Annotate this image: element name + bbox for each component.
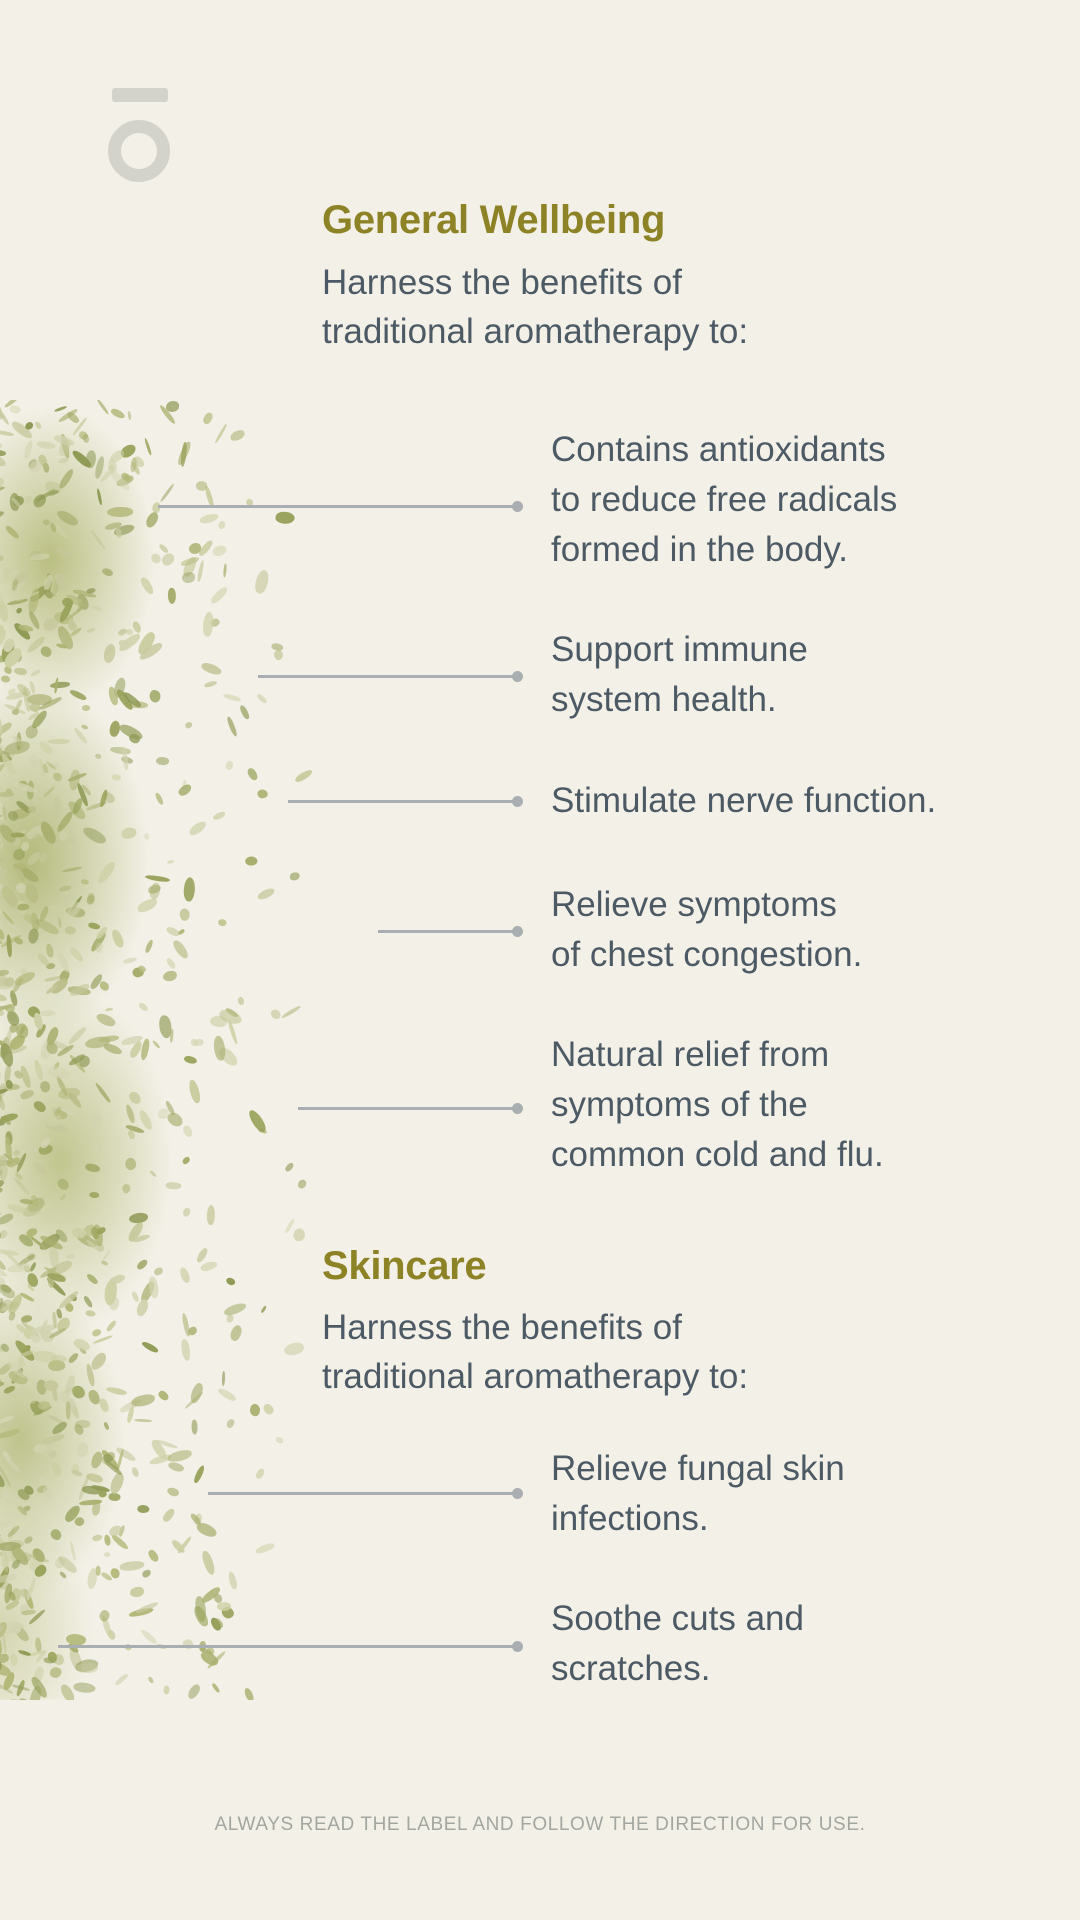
herb-leaf	[26, 1553, 47, 1574]
herb-leaf	[0, 1036, 12, 1059]
herb-leaf	[0, 1049, 11, 1060]
herb-leaf	[52, 1385, 59, 1401]
herb-leaf	[0, 1115, 12, 1127]
herb-leaf	[56, 624, 75, 651]
herb-leaf	[13, 809, 29, 819]
herb-leaf	[25, 421, 35, 431]
herb-leaf	[69, 1647, 85, 1672]
herb-leaf	[86, 1567, 99, 1589]
dried-herb-pile	[0, 400, 300, 1700]
herb-leaf	[72, 1681, 96, 1694]
herb-leaf	[141, 1569, 152, 1579]
herb-leaf	[0, 855, 6, 863]
herb-leaf	[5, 1132, 12, 1146]
herb-leaf	[5, 1029, 13, 1047]
herb-leaf	[0, 1329, 1, 1338]
herb-leaf	[0, 1397, 1, 1412]
herb-leaf	[16, 733, 22, 751]
herb-leaf	[14, 666, 29, 676]
herb-leaf	[22, 1484, 34, 1497]
herb-leaf	[11, 977, 24, 994]
herb-leaf	[14, 1338, 37, 1363]
herb-leaf	[69, 1054, 87, 1074]
herb-leaf	[53, 1556, 67, 1570]
herb-leaf	[222, 1371, 226, 1386]
herb-leaf	[36, 951, 50, 967]
herb-leaf	[6, 1203, 26, 1216]
herb-leaf	[106, 507, 132, 518]
herb-leaf	[50, 1353, 67, 1362]
herb-leaf	[108, 448, 126, 464]
bullet-text-chest-congestion: Relieve symptoms of chest congestion.	[551, 880, 862, 980]
herb-leaf	[79, 1222, 97, 1240]
herb-leaf	[0, 1659, 3, 1674]
herb-leaf	[45, 1276, 67, 1298]
herb-leaf	[55, 809, 76, 833]
herb-leaf	[70, 1294, 78, 1303]
herb-leaf	[121, 473, 129, 482]
herb-leaf	[24, 883, 39, 904]
herb-leaf	[122, 1156, 138, 1172]
herb-leaf	[67, 1397, 81, 1420]
herb-leaf	[94, 1082, 111, 1104]
herb-leaf	[63, 1375, 78, 1398]
herb-leaf	[228, 1571, 238, 1590]
herb-leaf	[144, 438, 152, 456]
herb-leaf	[52, 771, 63, 782]
herb-leaf	[0, 1469, 2, 1480]
herb-leaf	[25, 1228, 38, 1239]
herb-leaf	[39, 1233, 64, 1251]
herb-leaf	[0, 1155, 3, 1172]
herb-leaf	[68, 1053, 86, 1067]
section-subtitle-skincare: Harness the benefits of traditional arom…	[322, 1303, 748, 1401]
herb-leaf	[38, 455, 48, 468]
herb-leaf	[58, 1087, 80, 1099]
herb-leaf	[7, 1368, 30, 1388]
herb-leaf	[27, 1685, 44, 1700]
herb-leaf	[56, 1308, 63, 1319]
herb-leaf	[139, 576, 155, 596]
herb-leaf	[141, 1340, 159, 1355]
herb-leaf	[67, 1026, 88, 1046]
herb-leaf	[95, 925, 110, 940]
herb-leaf	[72, 1336, 92, 1353]
herb-leaf	[104, 1535, 111, 1546]
herb-leaf	[9, 990, 18, 1006]
herb-leaf	[0, 1362, 14, 1376]
herb-leaf	[177, 783, 193, 797]
bullet-text-antioxidants: Contains antioxidants to reduce free rad…	[551, 425, 897, 575]
herb-leaf	[43, 1265, 66, 1279]
herb-leaf	[81, 705, 90, 712]
herb-leaf	[0, 1004, 13, 1012]
herb-leaf	[56, 438, 72, 457]
herb-leaf	[0, 569, 20, 586]
herb-leaf	[12, 495, 24, 506]
herb-leaf	[3, 1385, 16, 1394]
herb-leaf	[88, 1450, 104, 1470]
herb-leaf	[140, 1627, 159, 1645]
herb-leaf	[37, 1231, 62, 1251]
herb-leaf	[134, 1418, 152, 1422]
herb-leaf	[192, 1604, 210, 1628]
herb-leaf	[67, 945, 84, 964]
herb-leaf	[177, 928, 185, 935]
herb-leaf	[37, 441, 57, 451]
herb-leaf	[56, 1044, 75, 1058]
herb-leaf	[63, 900, 84, 921]
herb-leaf	[118, 1524, 126, 1537]
herb-leaf	[7, 1590, 16, 1601]
herb-leaf	[15, 1680, 26, 1697]
herb-leaf	[11, 1683, 30, 1692]
herb-leaf	[6, 1079, 13, 1088]
herb-leaf	[48, 490, 60, 497]
herb-leaf	[195, 1247, 209, 1264]
herb-leaf	[100, 1259, 108, 1266]
herb-leaf	[19, 1314, 32, 1324]
herb-leaf	[0, 1152, 10, 1170]
herb-leaf	[28, 699, 42, 713]
herb-leaf	[256, 788, 268, 800]
herb-leaf	[65, 926, 77, 935]
herb-leaf	[100, 1449, 120, 1473]
herb-leaf	[18, 1696, 35, 1700]
herb-leaf	[19, 1588, 29, 1598]
herb-leaf	[0, 1083, 19, 1092]
herb-leaf	[0, 1004, 2, 1013]
herb-leaf	[223, 692, 241, 702]
herb-leaf	[46, 572, 51, 592]
herb-leaf	[119, 640, 129, 648]
herb-leaf	[34, 421, 42, 430]
herb-leaf	[0, 827, 6, 853]
herb-leaf	[89, 973, 105, 991]
herb-leaf	[81, 824, 108, 847]
herb-leaf	[33, 1059, 44, 1081]
herb-leaf	[0, 744, 6, 759]
herb-leaf	[0, 1212, 16, 1227]
herb-leaf	[284, 1218, 295, 1234]
herb-leaf	[0, 587, 6, 606]
connector-line-3	[288, 800, 518, 803]
herb-leaf	[5, 921, 21, 931]
herb-leaf	[108, 1525, 124, 1538]
herb-leaf	[0, 755, 12, 761]
herb-leaf	[0, 450, 8, 469]
herb-leaf	[7, 1311, 16, 1321]
herb-leaf	[68, 1352, 80, 1364]
herb-leaf	[120, 755, 133, 765]
herb-leaf	[4, 703, 27, 716]
herb-leaf	[114, 1673, 129, 1686]
herb-leaf	[121, 1034, 144, 1046]
herb-leaf	[22, 1264, 32, 1274]
connector-line-6	[208, 1492, 518, 1495]
herb-leaf	[0, 1467, 2, 1481]
bullet-text-cold-and-flu: Natural relief from symptoms of the comm…	[551, 1030, 884, 1180]
herb-leaf	[165, 925, 181, 938]
herb-leaf	[105, 1319, 117, 1332]
herb-leaf	[284, 1161, 295, 1173]
herb-leaf	[260, 1306, 267, 1314]
herb-leaf	[0, 910, 14, 925]
herb-leaf	[48, 1038, 69, 1051]
herb-leaf	[10, 1367, 25, 1385]
herb-leaf	[294, 769, 314, 784]
herb-leaf	[152, 1040, 161, 1050]
herb-leaf	[97, 1609, 111, 1624]
herb-leaf	[6, 1458, 20, 1474]
herb-leaf	[42, 1486, 54, 1501]
herb-leaf	[101, 1250, 111, 1262]
herb-leaf	[11, 496, 22, 508]
herb-leaf	[28, 1398, 45, 1416]
herb-leaf	[80, 878, 89, 885]
herb-leaf	[0, 1381, 4, 1387]
herb-leaf	[37, 1475, 46, 1483]
herb-leaf	[14, 864, 27, 883]
herb-leaf	[0, 449, 7, 457]
herb-leaf	[6, 1620, 18, 1630]
herb-leaf	[270, 641, 284, 652]
herb-leaf	[164, 1100, 175, 1117]
herb-leaf	[122, 473, 132, 483]
herb-leaf	[56, 1176, 71, 1192]
herb-leaf	[47, 904, 73, 915]
herb-leaf	[25, 850, 42, 867]
herb-leaf	[0, 749, 13, 765]
herb-leaf	[101, 1615, 113, 1637]
herb-leaf	[144, 833, 149, 841]
herb-leaf	[53, 677, 59, 694]
herb-leaf	[13, 862, 28, 870]
herb-leaf	[0, 866, 10, 884]
herb-leaf	[70, 448, 93, 470]
herb-leaf	[8, 1539, 24, 1548]
herb-leaf	[206, 1205, 216, 1225]
herb-leaf	[28, 805, 36, 812]
herb-leaf	[249, 1403, 261, 1417]
herb-leaf	[47, 1269, 54, 1288]
herb-leaf	[0, 1539, 9, 1545]
herb-leaf	[0, 969, 3, 979]
herb-leaf	[87, 1388, 101, 1405]
herb-leaf	[0, 1635, 3, 1658]
herb-leaf	[0, 785, 5, 803]
herb-leaf	[72, 417, 88, 436]
herb-leaf	[120, 1560, 145, 1571]
herb-leaf	[91, 1533, 102, 1542]
herb-leaf	[81, 783, 92, 795]
herb-leaf	[13, 622, 32, 643]
herb-leaf	[201, 1550, 217, 1577]
herb-leaf	[37, 851, 48, 864]
herb-leaf	[0, 1113, 19, 1124]
herb-leaf	[78, 430, 88, 440]
herb-leaf	[148, 1453, 172, 1466]
herb-leaf	[213, 1035, 225, 1061]
herb-leaf	[281, 1004, 302, 1018]
herb-leaf	[13, 1069, 24, 1080]
herb-leaf	[115, 474, 135, 487]
herb-leaf	[112, 774, 121, 780]
herb-leaf	[7, 598, 28, 606]
herb-leaf	[84, 449, 98, 468]
herb-leaf	[110, 928, 125, 949]
herb-leaf	[0, 1154, 8, 1166]
herb-leaf	[23, 1535, 34, 1545]
herb-leaf	[191, 1419, 197, 1434]
herb-leaf	[182, 571, 196, 583]
herb-leaf	[52, 610, 74, 627]
herb-leaf	[128, 1130, 136, 1141]
herb-leaf	[126, 1104, 137, 1124]
herb-leaf	[224, 1302, 248, 1317]
herb-leaf	[0, 1337, 6, 1355]
herb-leaf	[48, 1450, 58, 1460]
herb-leaf	[110, 1533, 129, 1551]
herb-leaf	[53, 1106, 62, 1117]
herb-leaf	[98, 789, 109, 807]
herb-leaf	[57, 1553, 80, 1575]
herb-leaf	[53, 433, 75, 448]
herb-leaf	[92, 1142, 103, 1154]
herb-leaf	[225, 1006, 239, 1018]
herb-leaf	[0, 599, 9, 624]
herb-leaf	[125, 627, 134, 636]
herb-leaf	[11, 779, 37, 794]
herb-leaf	[3, 1550, 13, 1562]
herb-leaf	[218, 1006, 244, 1026]
herb-leaf	[0, 1620, 9, 1639]
footer-disclaimer: ALWAYS READ THE LABEL AND FOLLOW THE DIR…	[0, 1814, 1080, 1836]
herb-leaf	[1, 637, 17, 654]
herb-leaf	[214, 423, 228, 444]
herb-leaf	[137, 963, 147, 973]
herb-leaf	[98, 1035, 119, 1043]
herb-leaf	[49, 522, 57, 533]
herb-leaf	[212, 1592, 224, 1604]
herb-leaf	[0, 1118, 5, 1127]
herb-leaf	[2, 1249, 22, 1270]
herb-leaf	[0, 1661, 13, 1679]
herb-leaf	[3, 976, 15, 988]
herb-leaf	[183, 1391, 203, 1409]
herb-leaf	[122, 689, 143, 709]
herb-leaf	[244, 855, 257, 866]
herb-leaf	[26, 1004, 42, 1020]
herb-leaf	[226, 716, 238, 737]
herb-leaf	[28, 610, 42, 630]
herb-leaf	[118, 1397, 143, 1414]
herb-leaf	[57, 968, 71, 983]
herb-leaf	[0, 628, 8, 647]
herb-leaf	[37, 1400, 50, 1411]
herb-leaf	[55, 643, 67, 650]
herb-leaf	[19, 1065, 32, 1089]
herb-leaf	[20, 842, 29, 852]
herb-leaf	[0, 1630, 1, 1653]
herb-leaf	[51, 1360, 61, 1368]
herb-leaf	[54, 1227, 69, 1244]
herb-leaf	[84, 1162, 101, 1174]
herb-leaf	[0, 405, 11, 426]
herb-leaf	[17, 904, 29, 911]
herb-leaf	[136, 896, 159, 914]
herb-leaf	[7, 810, 18, 822]
herb-leaf	[37, 1035, 57, 1061]
herb-leaf	[109, 745, 131, 755]
herb-leaf	[0, 1685, 2, 1690]
herb-leaf	[0, 1531, 7, 1552]
herb-leaf	[183, 876, 197, 902]
herb-leaf	[26, 588, 41, 615]
herb-leaf	[28, 1261, 36, 1272]
herb-leaf	[31, 913, 41, 932]
herb-leaf	[20, 1386, 26, 1394]
herb-leaf	[130, 1290, 139, 1302]
herb-leaf	[85, 801, 108, 812]
bullet-text-nerve-function: Stimulate nerve function.	[551, 776, 936, 826]
herb-leaf	[14, 699, 23, 712]
herb-leaf	[5, 1003, 16, 1012]
herb-leaf	[178, 907, 191, 921]
herb-leaf	[42, 618, 58, 631]
herb-leaf	[86, 1239, 100, 1252]
herb-leaf	[96, 400, 110, 416]
herb-leaf	[10, 1558, 22, 1570]
herb-leaf	[22, 1143, 38, 1154]
herb-leaf	[0, 1573, 17, 1584]
herb-leaf	[85, 1471, 104, 1485]
herb-leaf	[116, 527, 122, 537]
herb-leaf	[38, 905, 50, 922]
herb-leaf	[50, 1420, 69, 1436]
herb-leaf	[0, 1263, 8, 1279]
herb-leaf	[127, 411, 131, 420]
herb-leaf	[22, 1588, 35, 1610]
herb-leaf	[71, 626, 83, 636]
herb-leaf	[39, 1136, 51, 1150]
herb-leaf	[187, 1326, 198, 1337]
herb-leaf	[21, 1202, 44, 1219]
herb-leaf	[52, 1654, 64, 1666]
herb-leaf	[199, 1648, 221, 1669]
herb-leaf	[20, 1198, 35, 1205]
herb-leaf	[138, 1280, 157, 1304]
herb-leaf	[135, 1258, 149, 1271]
herb-leaf	[27, 583, 50, 604]
herb-leaf	[14, 1172, 23, 1182]
herb-leaf	[52, 1108, 68, 1122]
herb-leaf	[16, 681, 33, 698]
herb-leaf	[57, 407, 79, 423]
herb-leaf	[188, 1381, 206, 1405]
herb-leaf	[7, 1012, 17, 1023]
herb-leaf	[103, 1422, 109, 1431]
herb-leaf	[0, 1489, 10, 1501]
herb-leaf	[42, 519, 50, 527]
herb-leaf	[0, 1342, 11, 1354]
herb-leaf	[156, 756, 170, 766]
herb-leaf	[0, 864, 2, 873]
herb-leaf	[16, 1023, 29, 1039]
herb-leaf	[29, 553, 49, 561]
herb-leaf	[44, 1026, 60, 1047]
herb-leaf	[0, 979, 16, 990]
